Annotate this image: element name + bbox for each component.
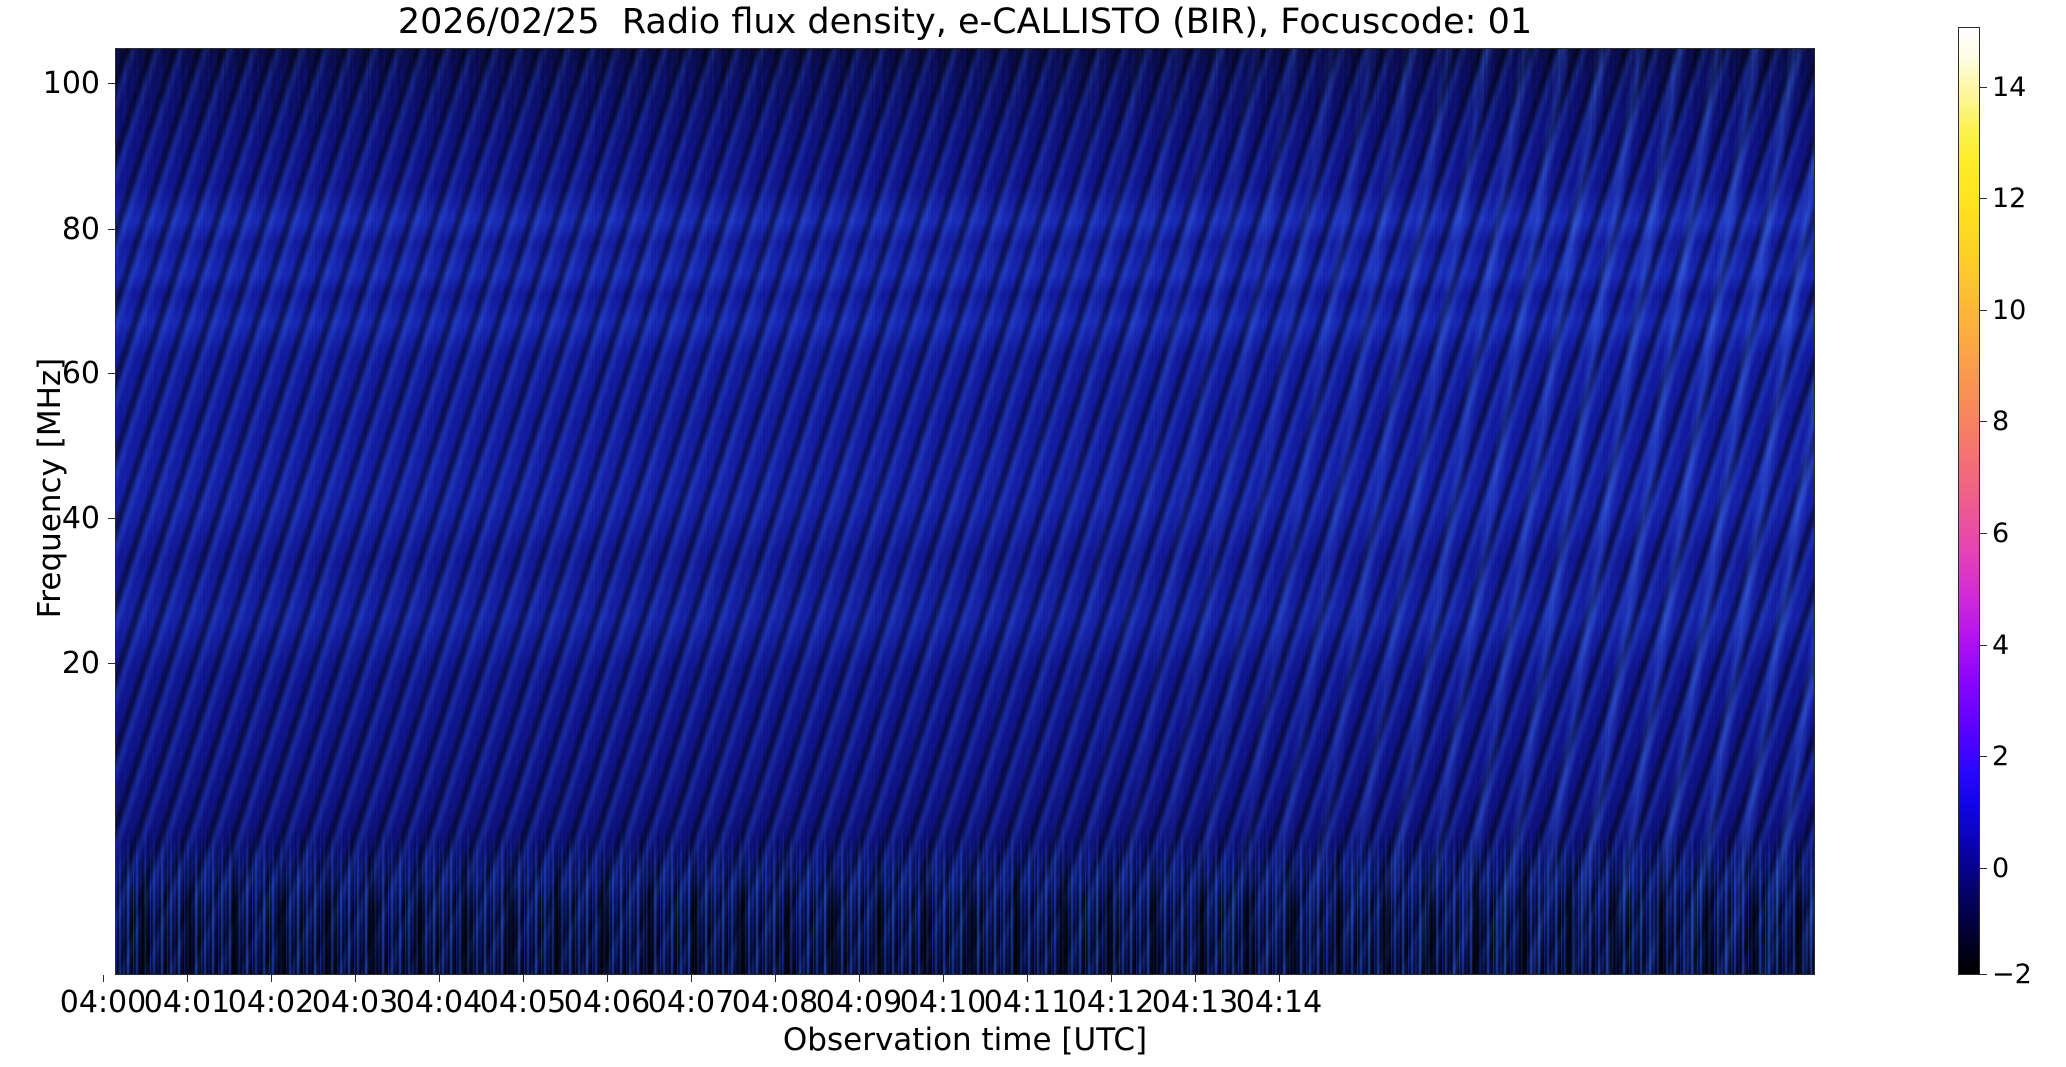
colorbar-tick-6 [1980, 533, 1987, 534]
colorbar-label-12: 12 [1992, 183, 2026, 214]
colorbar-tick-2 [1980, 756, 1987, 757]
x-tick-10 [943, 975, 944, 982]
x-tick-11 [1027, 975, 1028, 982]
colorbar-tick-12 [1980, 198, 1987, 199]
colorbar-label-8: 8 [1992, 406, 2009, 437]
y-tick-2 [108, 373, 115, 374]
colorbar-label-2: 2 [1992, 741, 2009, 772]
x-tick-5 [523, 975, 524, 982]
colorbar-tick-m2 [1980, 974, 1987, 975]
x-tick-9 [859, 975, 860, 982]
colorbar-label-10: 10 [1992, 295, 2026, 326]
colorbar-label-14: 14 [1992, 72, 2026, 103]
y-tick-4 [108, 663, 115, 664]
colorbar-tick-0 [1980, 868, 1987, 869]
colorbar [1958, 27, 1980, 975]
y-tick-1 [108, 229, 115, 230]
y-tick-3 [108, 518, 115, 519]
y-axis-label: Frequency [MHz] [32, 58, 68, 918]
colorbar-label-4: 4 [1992, 630, 2009, 661]
x-tick-14 [1279, 975, 1280, 982]
spectrogram-plot-area [115, 48, 1815, 975]
spectrogram-low-frequency-rfi-dark [116, 49, 1814, 974]
x-tick-13 [1195, 975, 1196, 982]
x-tick-1 [187, 975, 188, 982]
y-tick-0 [108, 83, 115, 84]
x-tick-label-14: 04:14 [1199, 985, 1359, 1020]
x-axis-label: Observation time [UTC] [115, 1022, 1815, 1058]
x-tick-0 [103, 975, 104, 982]
colorbar-tick-14 [1980, 87, 1987, 88]
colorbar-label-0: 0 [1992, 853, 2009, 884]
colorbar-label-minus-2: −2 [1992, 959, 2032, 990]
colorbar-tick-4 [1980, 645, 1987, 646]
x-tick-12 [1111, 975, 1112, 982]
x-tick-2 [271, 975, 272, 982]
x-tick-8 [775, 975, 776, 982]
colorbar-label-6: 6 [1992, 518, 2009, 549]
x-tick-6 [607, 975, 608, 982]
page-title: 2026/02/25 Radio flux density, e-CALLIST… [0, 2, 1930, 42]
x-tick-4 [439, 975, 440, 982]
spectrogram-figure: 2026/02/25 Radio flux density, e-CALLIST… [0, 0, 2066, 1067]
colorbar-tick-8 [1980, 421, 1987, 422]
x-tick-3 [355, 975, 356, 982]
colorbar-tick-10 [1980, 310, 1987, 311]
x-tick-7 [691, 975, 692, 982]
